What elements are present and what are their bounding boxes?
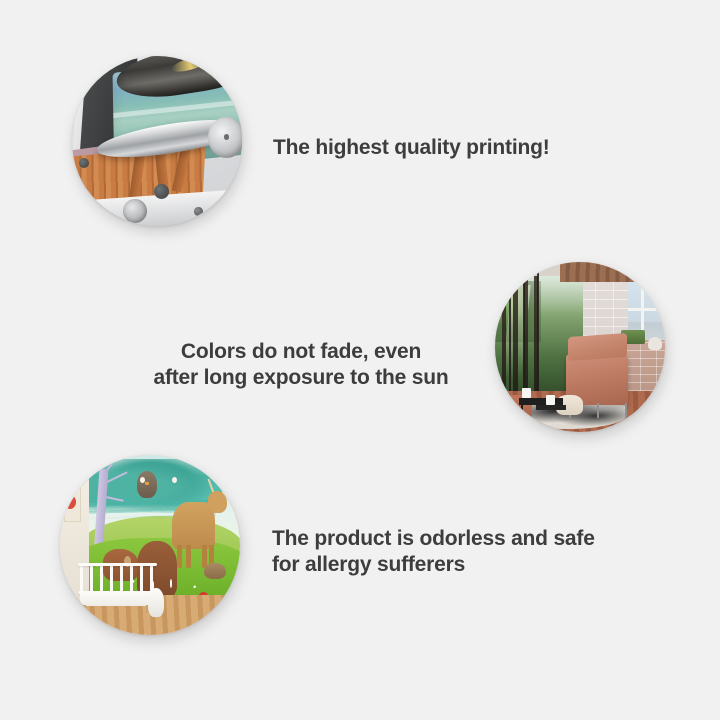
promo-feature-board: The highest quality printing! Colors do …	[0, 0, 720, 720]
mural-owl	[137, 471, 157, 498]
crib-bars	[80, 565, 156, 592]
printing-roller-cap	[208, 117, 242, 158]
crib-leg-left	[83, 605, 86, 613]
cup-2	[546, 395, 555, 405]
nursery-animal-mural-photo	[60, 455, 240, 635]
printing-knob-right	[194, 207, 203, 216]
cup-1	[522, 388, 531, 398]
feature-image-odorless	[60, 455, 240, 635]
coffee-table-low	[536, 405, 567, 410]
mural-deer-leg-2	[186, 545, 191, 568]
sofa-leg-2	[597, 403, 599, 418]
feature-caption-colorfast: Colors do not fade, even after long expo…	[150, 339, 452, 391]
nursery-wall-toy	[64, 495, 77, 509]
printing-dial	[123, 199, 147, 223]
printing-press-photo	[72, 56, 242, 226]
wooden-ceiling	[560, 262, 665, 282]
mural-hedgehog	[204, 563, 226, 579]
crib-skirt	[80, 593, 156, 606]
coffee-table-tall	[519, 398, 563, 405]
nursery-crib	[78, 563, 157, 613]
mural-divider-1	[509, 272, 511, 408]
mural-divider-3	[537, 272, 539, 408]
crib-rail-top	[78, 563, 157, 566]
living-room-forest-mural-photo	[495, 262, 665, 432]
feature-image-colorfast	[495, 262, 665, 432]
window-vase	[648, 337, 662, 351]
mural-deer-body	[172, 502, 215, 549]
mural-deer-leg-1	[177, 545, 182, 568]
sofa-leg-3	[625, 403, 627, 418]
printing-knob-front	[154, 184, 169, 199]
mural-rabbit	[148, 588, 164, 617]
feature-caption-odorless: The product is odorless and safe for all…	[272, 526, 595, 578]
feature-caption-printing: The highest quality printing!	[273, 135, 550, 161]
feature-image-printing	[72, 56, 242, 226]
